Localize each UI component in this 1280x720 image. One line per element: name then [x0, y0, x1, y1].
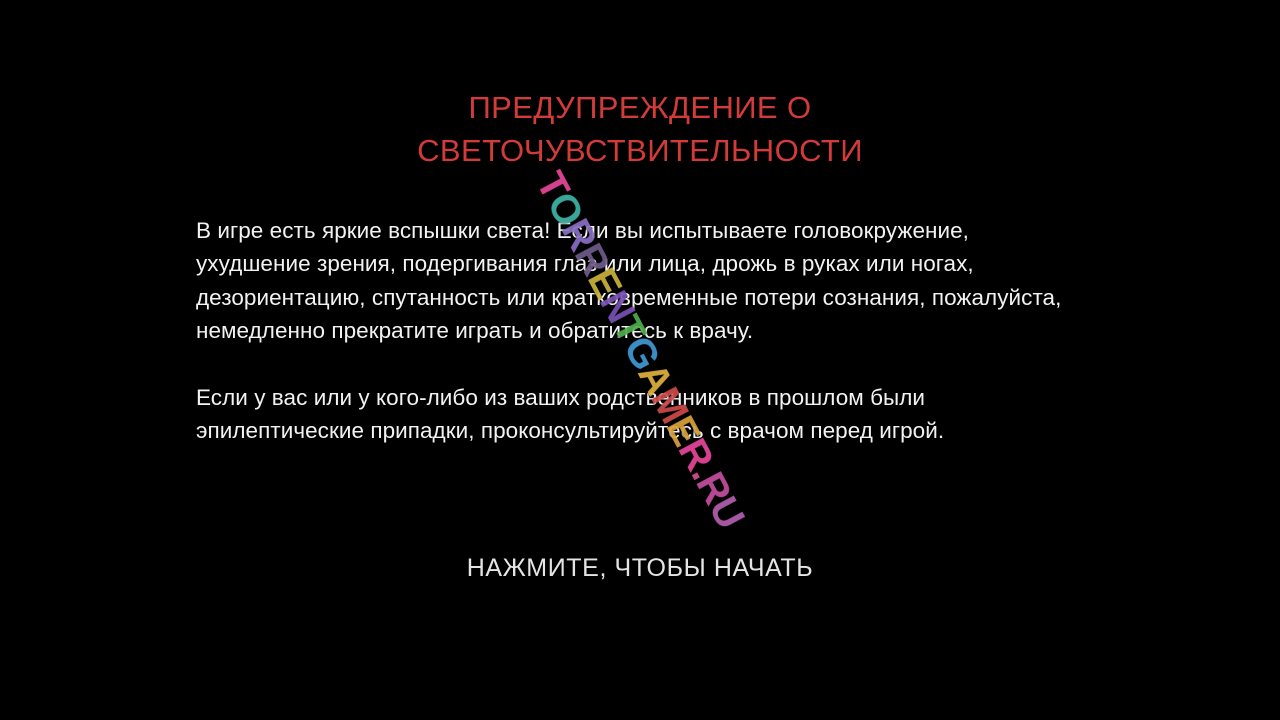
watermark-letter: R [687, 465, 741, 511]
warning-paragraph-2: Если у вас или у кого-либо из ваших родс… [196, 381, 1086, 448]
game-warning-screen[interactable]: ПРЕДУПРЕЖДЕНИЕ О СВЕТОЧУВСТВИТЕЛЬНОСТИ В… [0, 0, 1280, 720]
page-title: ПРЕДУПРЕЖДЕНИЕ О СВЕТОЧУВСТВИТЕЛЬНОСТИ [0, 86, 1280, 172]
watermark-letter: U [700, 489, 754, 535]
press-to-start-prompt[interactable]: НАЖМИТЕ, ЧТОБЫ НАЧАТЬ [0, 553, 1280, 583]
warning-paragraph-1: В игре есть яркие вспышки света! Если вы… [196, 214, 1086, 348]
watermark-letter: . [682, 456, 727, 487]
warning-body-text: В игре есть яркие вспышки света! Если вы… [196, 214, 1086, 448]
